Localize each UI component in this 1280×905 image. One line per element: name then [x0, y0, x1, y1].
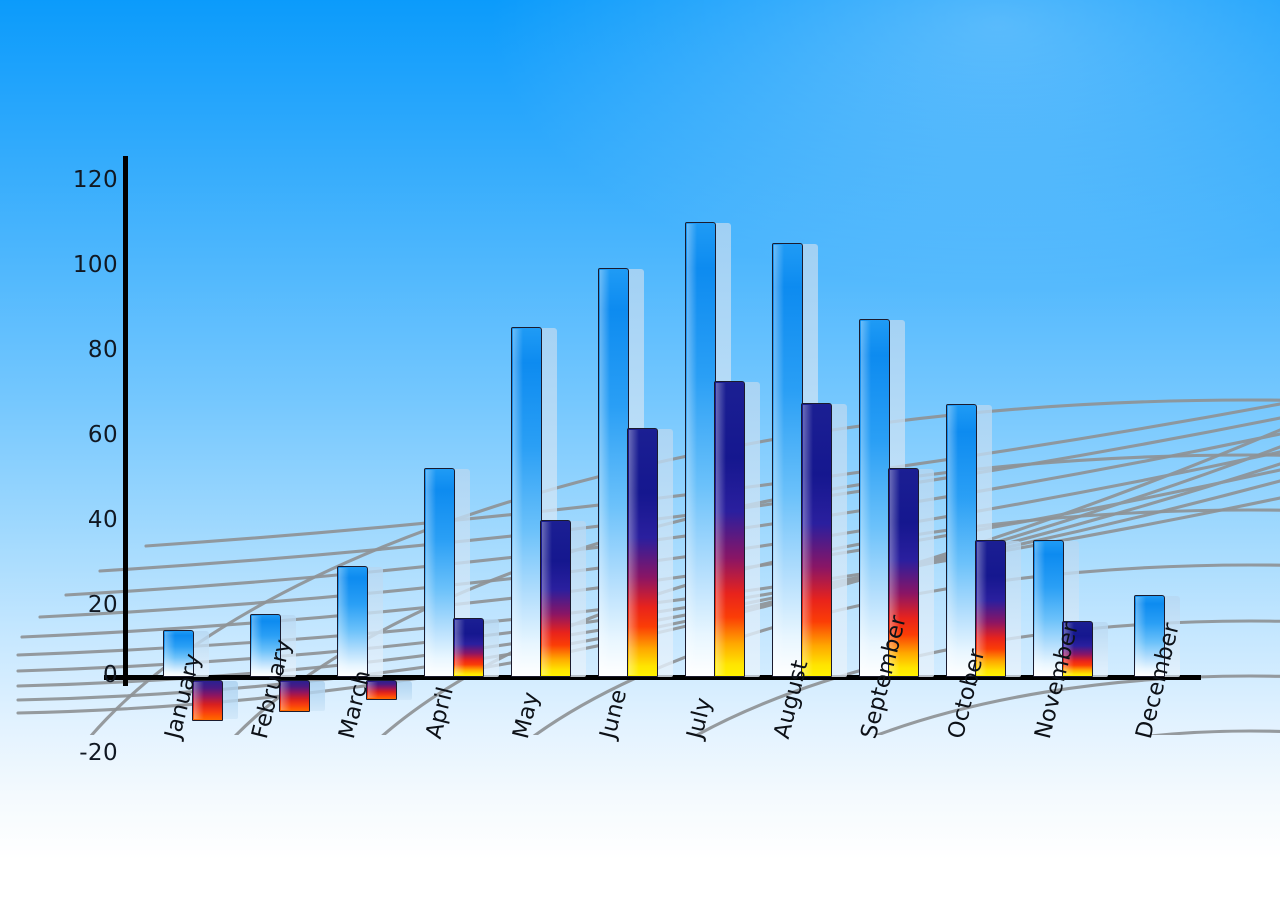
x-label-november: November	[1030, 620, 1084, 741]
x-label-march: March	[334, 667, 376, 741]
x-label-august: August	[769, 657, 814, 741]
x-axis-labels: January February March April May June Ju…	[0, 0, 1280, 905]
x-label-february: February	[247, 637, 297, 742]
x-label-april: April	[421, 684, 459, 741]
x-label-july: July	[682, 695, 717, 741]
x-label-october: October	[943, 646, 990, 741]
chart-canvas: 120 100 80 60 40 20 0 -20	[0, 0, 1280, 905]
x-label-january: January	[160, 651, 206, 741]
x-label-december: December	[1131, 620, 1185, 741]
x-label-june: June	[595, 687, 632, 742]
x-label-september: September	[856, 613, 912, 742]
x-label-may: May	[508, 689, 545, 741]
